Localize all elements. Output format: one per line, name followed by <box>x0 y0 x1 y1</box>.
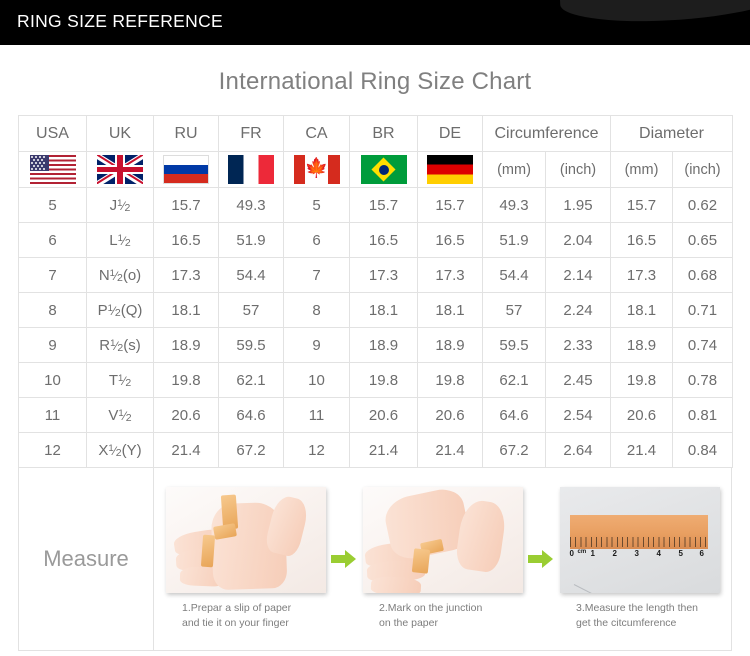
size-chart-container: USA UK RU FR CA BR DE Circumference Diam… <box>0 115 750 651</box>
uk-letter: R <box>99 337 110 354</box>
measure-label: Measure <box>19 468 154 651</box>
measure-step-3-caption: 3.Measure the length then get the citcum… <box>554 601 725 631</box>
column-header-circumference: Circumference <box>483 116 611 152</box>
cell-ru: 18.1 <box>154 293 219 328</box>
cell-diameter-inch: 0.78 <box>673 363 733 398</box>
cell-uk: T1⁄2 <box>87 363 154 398</box>
cell-uk: R1⁄2(s) <box>87 328 154 363</box>
column-header-br: BR <box>350 116 418 152</box>
flag-cell-br <box>350 152 418 188</box>
cell-ru: 18.9 <box>154 328 219 363</box>
uk-letter: V <box>108 407 118 424</box>
measure-step-3: 0 cm 1 2 3 4 5 6 3.Measure the le <box>554 487 725 631</box>
cell-ru: 19.8 <box>154 363 219 398</box>
cell-fr: 54.4 <box>219 258 284 293</box>
measure-step-2-caption: 2.Mark on the junction on the paper <box>357 601 528 631</box>
cell-br: 17.3 <box>350 258 418 293</box>
cell-br: 18.1 <box>350 293 418 328</box>
measure-steps: 1.Prepar a slip of paper and tie it on y… <box>154 468 731 650</box>
measure-steps-cell: 1.Prepar a slip of paper and tie it on y… <box>154 468 732 651</box>
flag-canada-icon: 🍁 <box>294 155 340 184</box>
cell-usa: 9 <box>19 328 87 363</box>
cell-circumference-mm: 57 <box>483 293 546 328</box>
cell-fr: 64.6 <box>219 398 284 433</box>
cell-diameter-inch: 0.65 <box>673 223 733 258</box>
column-header-diameter: Diameter <box>611 116 733 152</box>
hand-with-paper-strip-photo <box>166 487 326 593</box>
cell-ru: 20.6 <box>154 398 219 433</box>
banner-title: RING SIZE REFERENCE <box>17 11 223 32</box>
uk-fraction-denominator: 2 <box>125 377 131 389</box>
uk-letter: P <box>98 302 108 319</box>
cell-ca: 6 <box>284 223 350 258</box>
table-row: 6L1⁄216.551.9616.516.551.92.0416.50.65 <box>19 223 733 258</box>
flag-cell-de <box>418 152 483 188</box>
uk-fraction-denominator: 2 <box>126 412 132 424</box>
flag-cell-ca: 🍁 <box>284 152 350 188</box>
cell-ca: 8 <box>284 293 350 328</box>
arrow-right-icon-1 <box>331 550 357 568</box>
top-banner: RING SIZE REFERENCE <box>0 0 750 45</box>
cell-uk: X1⁄2(Y) <box>87 433 154 468</box>
flag-cell-fr <box>219 152 284 188</box>
flag-cell-uk <box>87 152 154 188</box>
uk-letter: T <box>109 372 118 389</box>
cell-ru: 16.5 <box>154 223 219 258</box>
cell-fr: 67.2 <box>219 433 284 468</box>
cell-circumference-inch: 2.14 <box>546 258 611 293</box>
cell-fr: 49.3 <box>219 188 284 223</box>
cell-diameter-inch: 0.74 <box>673 328 733 363</box>
measure-step-2-caption-line2: on the paper <box>379 617 438 629</box>
cell-diameter-mm: 21.4 <box>611 433 673 468</box>
column-header-usa: USA <box>19 116 87 152</box>
cell-circumference-mm: 49.3 <box>483 188 546 223</box>
cell-circumference-inch: 2.45 <box>546 363 611 398</box>
flag-brazil-icon <box>361 155 407 184</box>
cell-diameter-mm: 19.8 <box>611 363 673 398</box>
page-title: International Ring Size Chart <box>0 45 750 115</box>
cell-circumference-inch: 2.54 <box>546 398 611 433</box>
cell-diameter-inch: 0.84 <box>673 433 733 468</box>
cell-ru: 15.7 <box>154 188 219 223</box>
marking-paper-junction-photo <box>363 487 523 593</box>
uk-letter: N <box>99 267 110 284</box>
uk-letter: X <box>98 442 108 459</box>
uk-fraction-denominator: 2 <box>124 202 130 214</box>
table-row: 10T1⁄219.862.11019.819.862.12.4519.80.78 <box>19 363 733 398</box>
flag-cell-ru <box>154 152 219 188</box>
cell-br: 19.8 <box>350 363 418 398</box>
cell-ca: 5 <box>284 188 350 223</box>
arrow-right-icon-2 <box>528 550 554 568</box>
cell-usa: 7 <box>19 258 87 293</box>
cell-diameter-inch: 0.68 <box>673 258 733 293</box>
cell-diameter-mm: 17.3 <box>611 258 673 293</box>
cell-uk: J1⁄2 <box>87 188 154 223</box>
unit-circumference-inch: (inch) <box>546 152 611 188</box>
cell-ca: 10 <box>284 363 350 398</box>
cell-uk: L1⁄2 <box>87 223 154 258</box>
cell-br: 16.5 <box>350 223 418 258</box>
table-row: 11V1⁄220.664.61120.620.664.62.5420.60.81 <box>19 398 733 433</box>
table-row: 5J1⁄215.749.3515.715.749.31.9515.70.62 <box>19 188 733 223</box>
cell-de: 21.4 <box>418 433 483 468</box>
table-row: 8P1⁄2(Q)18.157818.118.1572.2418.10.71 <box>19 293 733 328</box>
uk-suffix: (Y) <box>122 442 142 459</box>
measure-step-1-caption: 1.Prepar a slip of paper and tie it on y… <box>160 601 331 631</box>
column-header-ru: RU <box>154 116 219 152</box>
unit-circumference-mm: (mm) <box>483 152 546 188</box>
cell-fr: 51.9 <box>219 223 284 258</box>
ruler-scale: 0 cm 1 2 3 4 5 6 <box>570 549 708 561</box>
cell-circumference-inch: 2.04 <box>546 223 611 258</box>
table-row: 9R1⁄2(s)18.959.5918.918.959.52.3318.90.7… <box>19 328 733 363</box>
flag-france-icon <box>228 155 274 184</box>
cell-de: 15.7 <box>418 188 483 223</box>
cell-uk: P1⁄2(Q) <box>87 293 154 328</box>
cell-uk: N1⁄2(o) <box>87 258 154 293</box>
measure-step-3-caption-line2: get the citcumference <box>576 617 676 629</box>
column-header-fr: FR <box>219 116 284 152</box>
cell-circumference-mm: 67.2 <box>483 433 546 468</box>
cell-uk: V1⁄2 <box>87 398 154 433</box>
cell-circumference-inch: 2.64 <box>546 433 611 468</box>
uk-fraction-denominator: 2 <box>125 237 131 249</box>
cell-de: 16.5 <box>418 223 483 258</box>
cell-fr: 62.1 <box>219 363 284 398</box>
cell-diameter-mm: 15.7 <box>611 188 673 223</box>
flag-russia-icon <box>163 155 209 184</box>
cell-br: 21.4 <box>350 433 418 468</box>
cell-de: 17.3 <box>418 258 483 293</box>
cell-diameter-mm: 16.5 <box>611 223 673 258</box>
cell-ca: 9 <box>284 328 350 363</box>
flag-cell-usa <box>19 152 87 188</box>
flag-germany-icon <box>427 155 473 184</box>
cell-usa: 8 <box>19 293 87 328</box>
measure-step-3-caption-line1: 3.Measure the length then <box>576 602 698 614</box>
measure-step-1-caption-line1: 1.Prepar a slip of paper <box>182 602 291 614</box>
cell-br: 15.7 <box>350 188 418 223</box>
cell-ca: 12 <box>284 433 350 468</box>
cell-fr: 59.5 <box>219 328 284 363</box>
uk-suffix: (o) <box>123 267 141 284</box>
ring-size-table: USA UK RU FR CA BR DE Circumference Diam… <box>18 115 733 468</box>
cell-ru: 17.3 <box>154 258 219 293</box>
cell-diameter-inch: 0.81 <box>673 398 733 433</box>
cell-diameter-mm: 18.1 <box>611 293 673 328</box>
cell-br: 20.6 <box>350 398 418 433</box>
measure-step-2-caption-line1: 2.Mark on the junction <box>379 602 482 614</box>
cell-circumference-mm: 59.5 <box>483 328 546 363</box>
cell-de: 18.9 <box>418 328 483 363</box>
measure-step-1: 1.Prepar a slip of paper and tie it on y… <box>160 487 331 631</box>
measure-section: Measure <box>18 467 732 651</box>
cell-ca: 7 <box>284 258 350 293</box>
table-row: 12X1⁄2(Y)21.467.21221.421.467.22.6421.40… <box>19 433 733 468</box>
uk-letter: L <box>109 232 117 249</box>
cell-circumference-inch: 2.33 <box>546 328 611 363</box>
measure-step-2: 2.Mark on the junction on the paper <box>357 487 528 631</box>
unit-diameter-inch: (inch) <box>673 152 733 188</box>
banner-sheen-decoration <box>559 0 750 26</box>
cell-usa: 5 <box>19 188 87 223</box>
column-header-uk: UK <box>87 116 154 152</box>
cell-diameter-mm: 20.6 <box>611 398 673 433</box>
measure-step-1-caption-line2: and tie it on your finger <box>182 617 289 629</box>
cell-de: 18.1 <box>418 293 483 328</box>
flag-uk-icon <box>97 155 143 184</box>
column-header-ca: CA <box>284 116 350 152</box>
table-header-row-names: USA UK RU FR CA BR DE Circumference Diam… <box>19 116 733 152</box>
table-body: 5J1⁄215.749.3515.715.749.31.9515.70.626L… <box>19 188 733 468</box>
uk-suffix: (Q) <box>121 302 143 319</box>
cell-circumference-mm: 51.9 <box>483 223 546 258</box>
column-header-de: DE <box>418 116 483 152</box>
cell-diameter-mm: 18.9 <box>611 328 673 363</box>
cell-circumference-inch: 2.24 <box>546 293 611 328</box>
cell-circumference-mm: 62.1 <box>483 363 546 398</box>
cell-de: 19.8 <box>418 363 483 398</box>
cell-usa: 6 <box>19 223 87 258</box>
cell-ca: 11 <box>284 398 350 433</box>
flag-usa-icon <box>30 155 76 184</box>
ruler-measuring-photo: 0 cm 1 2 3 4 5 6 <box>560 487 720 593</box>
cell-fr: 57 <box>219 293 284 328</box>
cell-diameter-inch: 0.62 <box>673 188 733 223</box>
table-header-row-flags: 🍁 (mm) (inch) (mm) (inch) <box>19 152 733 188</box>
cell-ru: 21.4 <box>154 433 219 468</box>
cell-diameter-inch: 0.71 <box>673 293 733 328</box>
unit-diameter-mm: (mm) <box>611 152 673 188</box>
cell-de: 20.6 <box>418 398 483 433</box>
cell-usa: 10 <box>19 363 87 398</box>
cell-circumference-inch: 1.95 <box>546 188 611 223</box>
uk-suffix: (s) <box>123 337 141 354</box>
cell-usa: 11 <box>19 398 87 433</box>
cell-circumference-mm: 54.4 <box>483 258 546 293</box>
table-row: 7N1⁄2(o)17.354.4717.317.354.42.1417.30.6… <box>19 258 733 293</box>
cell-circumference-mm: 64.6 <box>483 398 546 433</box>
cell-br: 18.9 <box>350 328 418 363</box>
cell-usa: 12 <box>19 433 87 468</box>
